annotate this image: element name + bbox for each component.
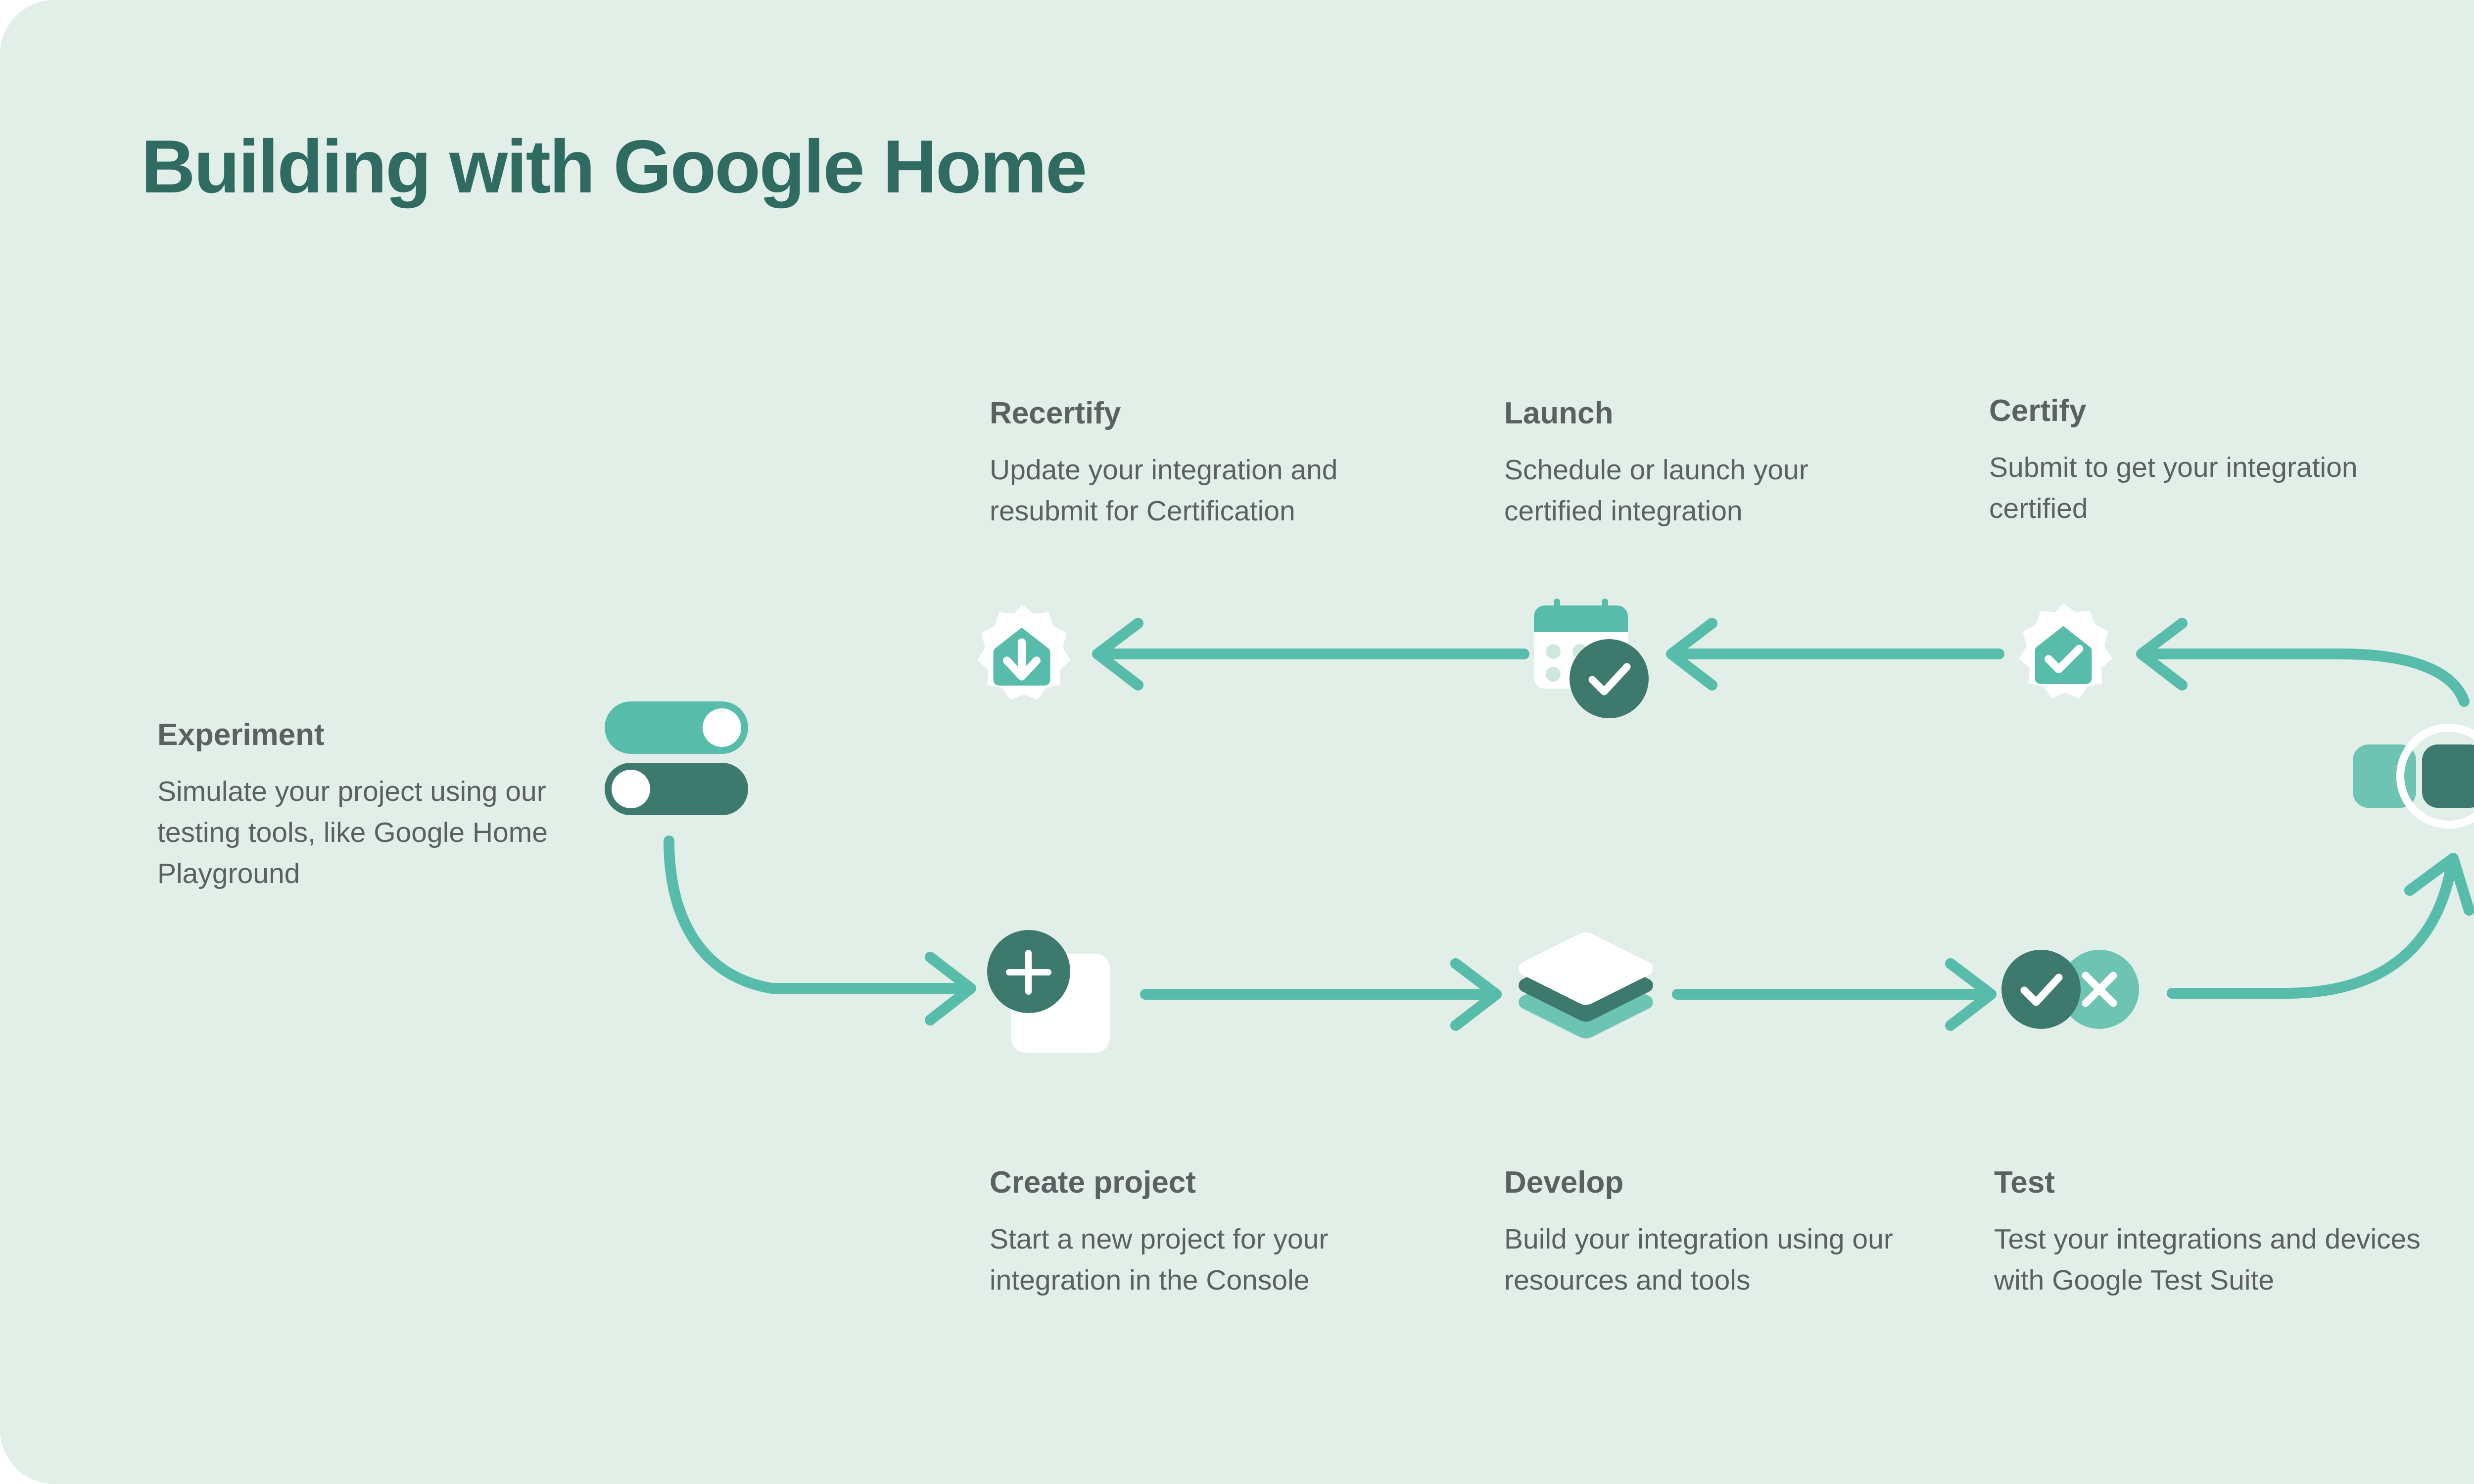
- toggle-switches-icon: [605, 701, 753, 815]
- arrow-test-to-fieldtrial: [2172, 858, 2469, 993]
- node-test-desc: Test your integrations and devices with …: [1994, 1219, 2439, 1301]
- arrow-launch-to-recertify: [1097, 623, 1524, 685]
- calendar-dot: [1546, 644, 1561, 659]
- node-create-project-desc: Start a new project for your integration…: [990, 1219, 1425, 1301]
- node-develop-desc: Build your integration using our resourc…: [1504, 1219, 1930, 1301]
- node-create-project-title: Create project: [990, 1165, 1425, 1200]
- devices-ring-icon: [2353, 720, 2474, 834]
- node-certify: Certify Submit to get your integration c…: [1989, 393, 2365, 529]
- calendar-dot: [1546, 667, 1561, 682]
- node-test: Test Test your integrations and devices …: [1994, 1165, 2439, 1301]
- node-certify-desc: Submit to get your integration certified: [1989, 447, 2365, 529]
- toggle-off-icon: [605, 763, 748, 815]
- node-experiment-title: Experiment: [157, 717, 583, 752]
- node-launch: Launch Schedule or launch your certified…: [1504, 396, 1910, 532]
- page-title: Building with Google Home: [141, 124, 1086, 210]
- plus-bar-vertical: [1025, 950, 1032, 995]
- node-launch-desc: Schedule or launch your certified integr…: [1504, 450, 1910, 532]
- node-test-title: Test: [1994, 1165, 2439, 1200]
- layers-icon: [1514, 930, 1658, 1054]
- layer-top: [1514, 930, 1658, 1015]
- diagram-canvas: .arrow { fill: none; stroke: #58bcab; st…: [0, 0, 2474, 1484]
- toggle-knob: [703, 708, 741, 747]
- arrow-certify-to-launch: [1671, 623, 1999, 685]
- toggle-knob: [612, 770, 650, 808]
- node-create-project: Create project Start a new project for y…: [990, 1165, 1425, 1301]
- node-experiment: Experiment Simulate your project using o…: [157, 717, 583, 895]
- node-develop: Develop Build your integration using our…: [1504, 1165, 1930, 1301]
- node-certify-title: Certify: [1989, 393, 2365, 428]
- plus-circle-icon: [987, 930, 1070, 1013]
- arrow-fieldtrial-to-certify: [2141, 623, 2464, 701]
- add-project-icon: [987, 930, 1121, 1054]
- toggle-on-icon: [605, 701, 748, 754]
- recertify-badge-icon: [965, 603, 1079, 716]
- focus-ring-icon: [2396, 724, 2474, 829]
- node-recertify: Recertify Update your integration and re…: [990, 396, 1425, 532]
- calendar-header: [1534, 605, 1628, 632]
- node-launch-title: Launch: [1504, 396, 1910, 431]
- arrow-create-to-develop: [1145, 964, 1496, 1025]
- node-recertify-desc: Update your integration and resubmit for…: [990, 450, 1425, 532]
- arrow-experiment-to-create: [669, 841, 971, 1020]
- certified-badge-icon: [2006, 601, 2120, 715]
- check-circle-icon: [1570, 639, 1649, 718]
- arrow-develop-to-test: [1677, 964, 1991, 1025]
- node-develop-title: Develop: [1504, 1165, 1930, 1200]
- check-and-cross-icon: [2001, 942, 2150, 1036]
- calendar-check-icon: [1534, 599, 1658, 722]
- node-recertify-title: Recertify: [990, 396, 1425, 431]
- check-circle-icon: [2001, 950, 2081, 1029]
- node-experiment-desc: Simulate your project using our testing …: [157, 771, 583, 895]
